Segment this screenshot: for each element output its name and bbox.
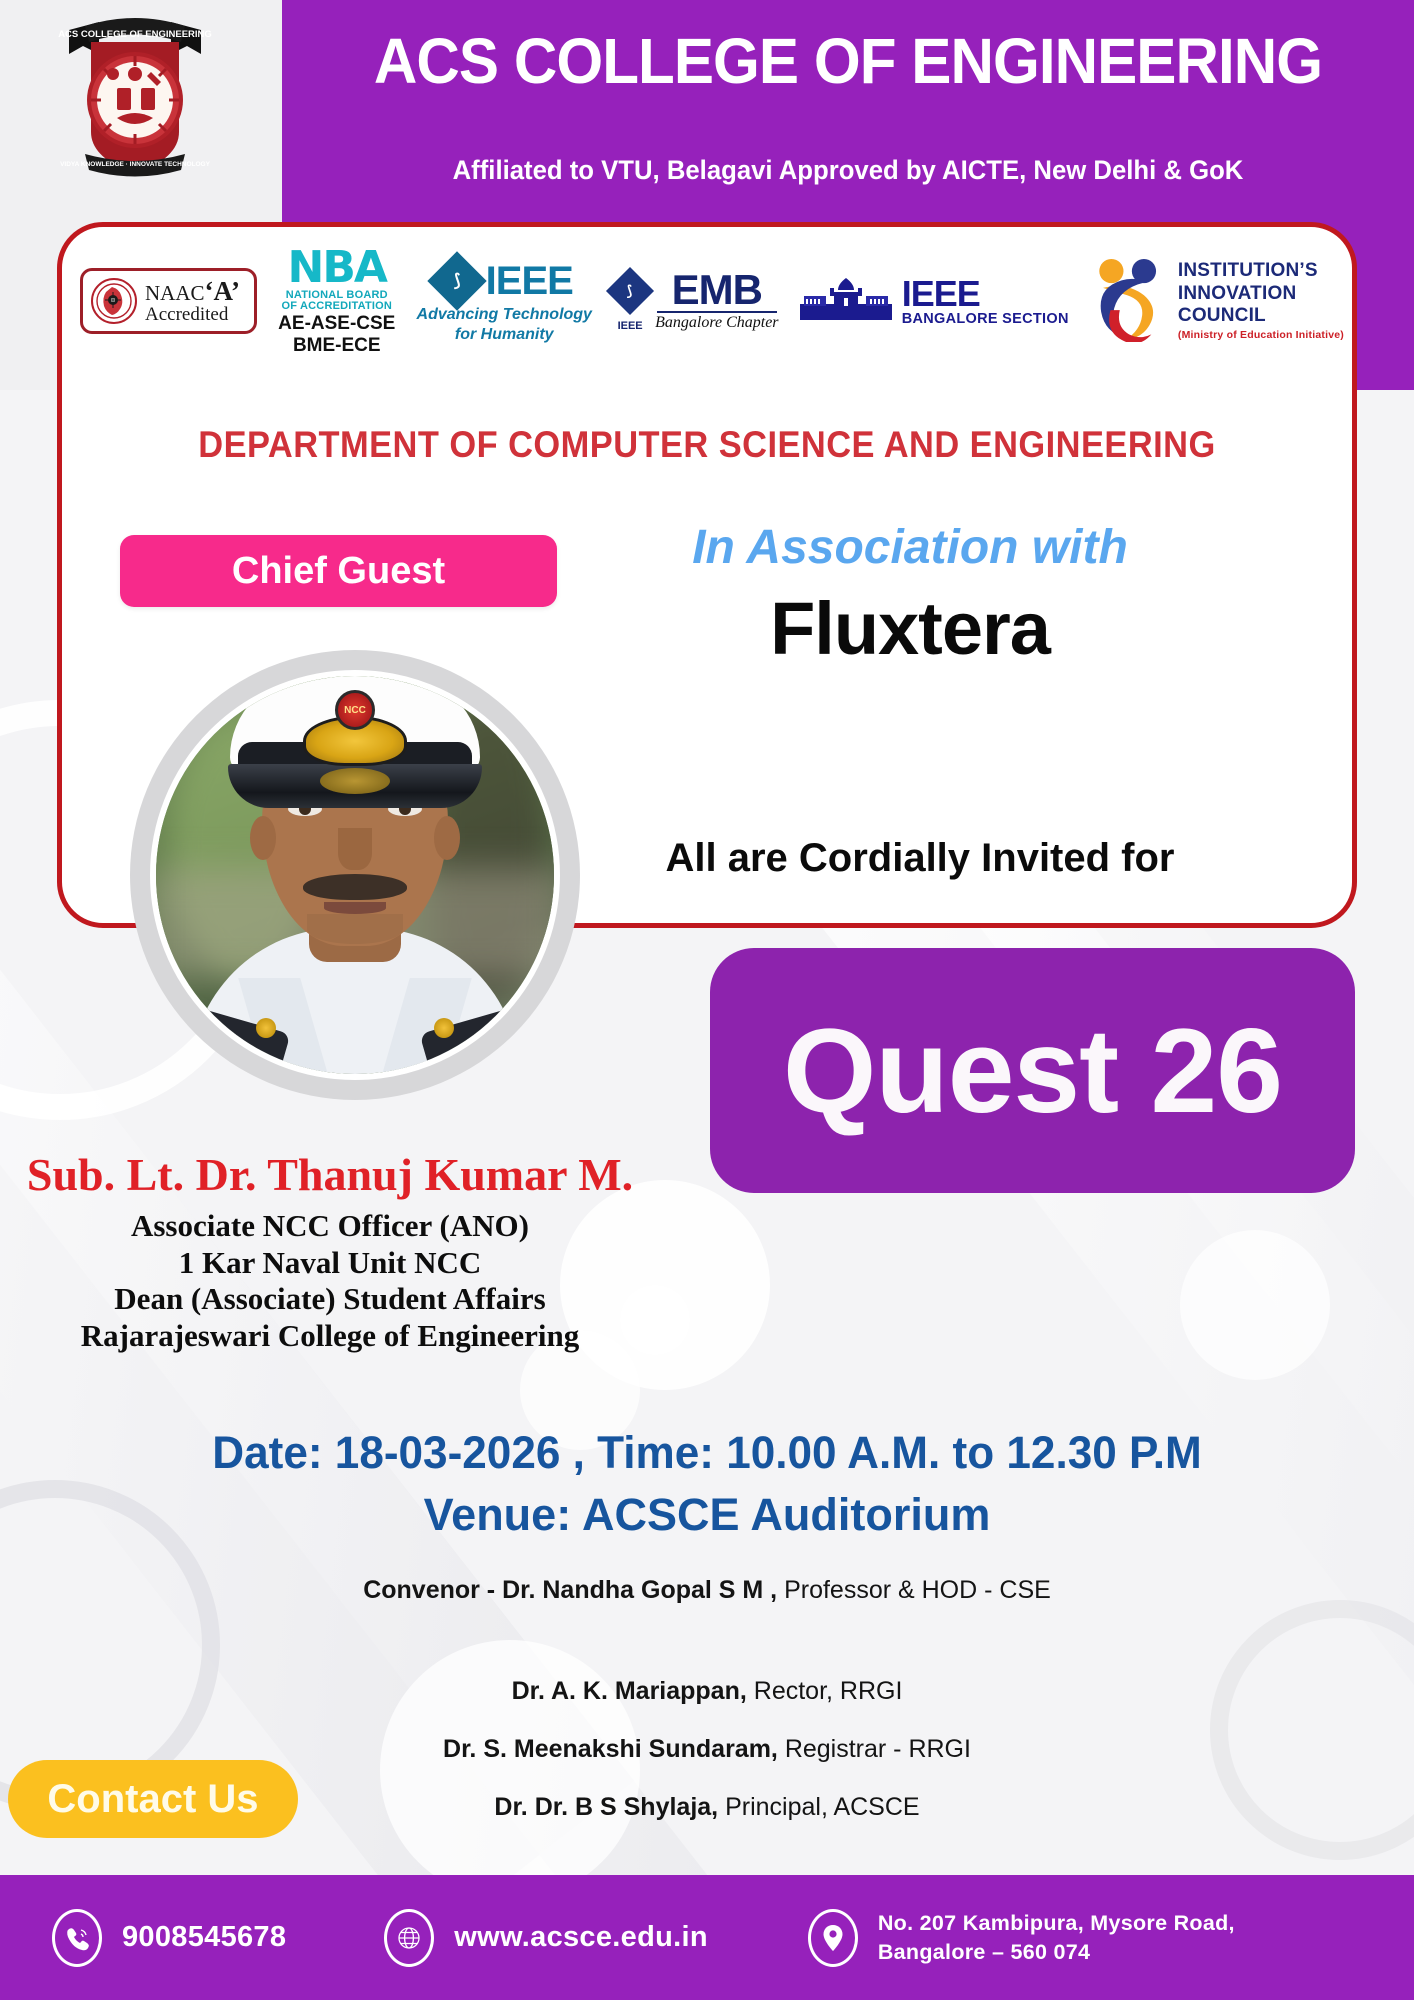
location-pin-icon: [808, 1909, 858, 1967]
bangalore-ieee-wordmark: IEEE: [902, 276, 1069, 312]
iic-emblem-icon: [1090, 256, 1170, 347]
nba-mark-text: NBA: [278, 246, 395, 290]
footer-address: No. 207 Kambipura, Mysore Road, Bangalor…: [808, 1909, 1235, 1967]
accreditation-logo-row: NAAC‘A’ Accredited NBA NATIONAL BOARD OF…: [80, 241, 1344, 361]
emb-ieee-label: IEEE: [613, 320, 647, 332]
nba-logo: NBA NATIONAL BOARD OF ACCREDITATION AE-A…: [278, 246, 395, 356]
svg-text:VIDYA KNOWLEDGE · INNOVATE TEC: VIDYA KNOWLEDGE · INNOVATE TECHNOLOGY: [60, 161, 211, 168]
chief-guest-label: Chief Guest: [232, 550, 445, 593]
footer-phone[interactable]: 9008545678: [52, 1909, 286, 1967]
venue-text: Venue: ACSCE Auditorium: [0, 1489, 1414, 1541]
naac-logo: NAAC‘A’ Accredited: [80, 268, 257, 334]
iic-line-2: INNOVATION: [1178, 283, 1344, 305]
contact-us-button[interactable]: Contact Us: [8, 1760, 298, 1838]
ieee-bangalore-section-logo: IEEE BANGALORE SECTION: [800, 276, 1069, 327]
emb-chapter-label: Bangalore Chapter: [655, 314, 778, 332]
vidhana-soudha-icon: [800, 278, 892, 324]
event-poster: ACS COLLEGE OF ENGINEERING: [0, 0, 1414, 2000]
address-line-1: No. 207 Kambipura, Mysore Road,: [878, 1909, 1235, 1938]
guest-role-1: Associate NCC Officer (ANO): [0, 1208, 660, 1245]
nba-sub2: OF ACCREDITATION: [278, 301, 395, 312]
ieee-wordmark: IEEE: [486, 259, 573, 304]
phone-icon: [52, 1909, 102, 1967]
dignitary-name: Dr. Dr. B S Shylaja,: [494, 1793, 718, 1821]
event-name-label: Quest 26: [783, 1002, 1282, 1140]
poster-footer: 9008545678 www.acsce.edu.in: [0, 1875, 1414, 2000]
globe-icon: [384, 1909, 434, 1967]
naac-grade: ‘A’: [205, 276, 240, 306]
chief-guest-photo: NCC: [130, 650, 580, 1100]
dignitary-name: Dr. S. Meenakshi Sundaram,: [443, 1735, 778, 1763]
dignitary-row: Dr. A. K. Mariappan, Rector, RRGI: [0, 1677, 1414, 1706]
guest-role-3: Dean (Associate) Student Affairs: [0, 1281, 660, 1318]
convenor-name: Convenor - Dr. Nandha Gopal S M ,: [363, 1576, 777, 1604]
acs-college-crest-logo: ACS COLLEGE OF ENGINEERING: [55, 8, 215, 183]
iic-logo: INSTITUTION’S INNOVATION COUNCIL (Minist…: [1090, 256, 1344, 347]
dignitary-name: Dr. A. K. Mariappan,: [512, 1677, 747, 1705]
dignitary-title: Registrar - RRGI: [778, 1735, 971, 1763]
convenor-line: Convenor - Dr. Nandha Gopal S M , Profes…: [0, 1576, 1414, 1605]
iic-line-1: INSTITUTION’S: [1178, 260, 1344, 282]
dignitary-title: Principal, ACSCE: [718, 1793, 919, 1821]
department-title: DEPARTMENT OF COMPUTER SCIENCE AND ENGIN…: [103, 424, 1312, 466]
emb-wordmark: EMB: [655, 270, 778, 310]
page-title: ACS COLLEGE OF ENGINEERING: [316, 26, 1380, 96]
phone-number: 9008545678: [122, 1921, 286, 1954]
naac-seal-icon: [91, 278, 137, 324]
naac-accredited-label: Accredited: [145, 305, 240, 325]
svg-text:ACS COLLEGE OF ENGINEERING: ACS COLLEGE OF ENGINEERING: [58, 29, 212, 40]
invitation-text: All are Cordially Invited for: [600, 836, 1240, 881]
bangalore-section-label: BANGALORE SECTION: [902, 312, 1069, 327]
nba-codes-line1: AE-ASE-CSE: [278, 314, 395, 334]
ieee-emb-logo: ⟆ IEEE EMB Bangalore Chapter: [613, 270, 778, 333]
nba-codes-line2: BME-ECE: [278, 336, 395, 356]
guest-role-4: Rajarajeswari College of Engineering: [0, 1318, 660, 1355]
iic-line-3: COUNCIL: [1178, 305, 1344, 327]
guest-role-2: 1 Kar Naval Unit NCC: [0, 1245, 660, 1282]
iic-ministry-label: (Ministry of Education Initiative): [1178, 329, 1344, 341]
ieee-tagline-2: for Humanity: [417, 326, 592, 344]
address-line-2: Bangalore – 560 074: [878, 1938, 1235, 1967]
guest-roles: Associate NCC Officer (ANO) 1 Kar Naval …: [0, 1208, 660, 1354]
date-time-text: Date: 18-03-2026 , Time: 10.00 A.M. to 1…: [14, 1427, 1400, 1479]
event-name-badge: Quest 26: [710, 948, 1355, 1193]
emb-diamond-icon: ⟆: [606, 267, 654, 315]
footer-website[interactable]: www.acsce.edu.in: [384, 1909, 708, 1967]
ieee-diamond-icon: ⟆: [427, 251, 486, 310]
ieee-tagline-1: Advancing Technology: [417, 306, 592, 324]
guest-name: Sub. Lt. Dr. Thanuj Kumar M.: [0, 1148, 660, 1201]
ieee-logo: ⟆ IEEE Advancing Technology for Humanity: [417, 259, 592, 344]
association-partner-name: Fluxtera: [600, 586, 1220, 671]
contact-us-label: Contact Us: [47, 1777, 258, 1822]
naac-label: NAAC: [145, 281, 205, 305]
association-prefix: In Association with: [600, 520, 1220, 575]
chief-guest-badge: Chief Guest: [120, 535, 557, 607]
website-url: www.acsce.edu.in: [454, 1921, 708, 1954]
affiliation-text: Affiliated to VTU, Belagavi Approved by …: [299, 155, 1397, 186]
convenor-title: Professor & HOD - CSE: [777, 1576, 1051, 1604]
dignitary-title: Rector, RRGI: [747, 1677, 903, 1705]
